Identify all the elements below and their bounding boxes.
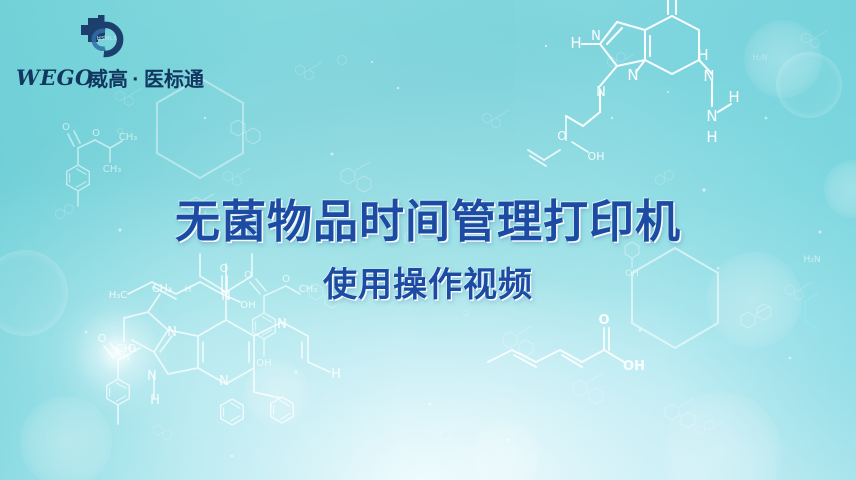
brand-wordmark: WEGO 威高 · 医标通 [14,62,204,92]
brand-wordmark-separator: · [132,70,138,90]
wego-b-cross-logo-icon: HSMLS [72,12,146,64]
brand-wordmark-cn1: 威高 [88,67,128,91]
page-subtitle: 使用操作视频 [0,257,856,306]
page-title: 无菌物品时间管理打印机 [0,198,856,245]
logo-inner-text: HSMLS [97,36,118,42]
brand-wordmark-cn2: 医标通 [144,67,204,91]
brand-wordmark-latin: WEGO [16,65,94,90]
brand-logo: HSMLS WEGO 威高 · 医标通 [14,12,204,97]
video-title-slide: O N H N H H N H N N O OH [0,0,856,480]
title-block: 无菌物品时间管理打印机 使用操作视频 [0,198,856,306]
